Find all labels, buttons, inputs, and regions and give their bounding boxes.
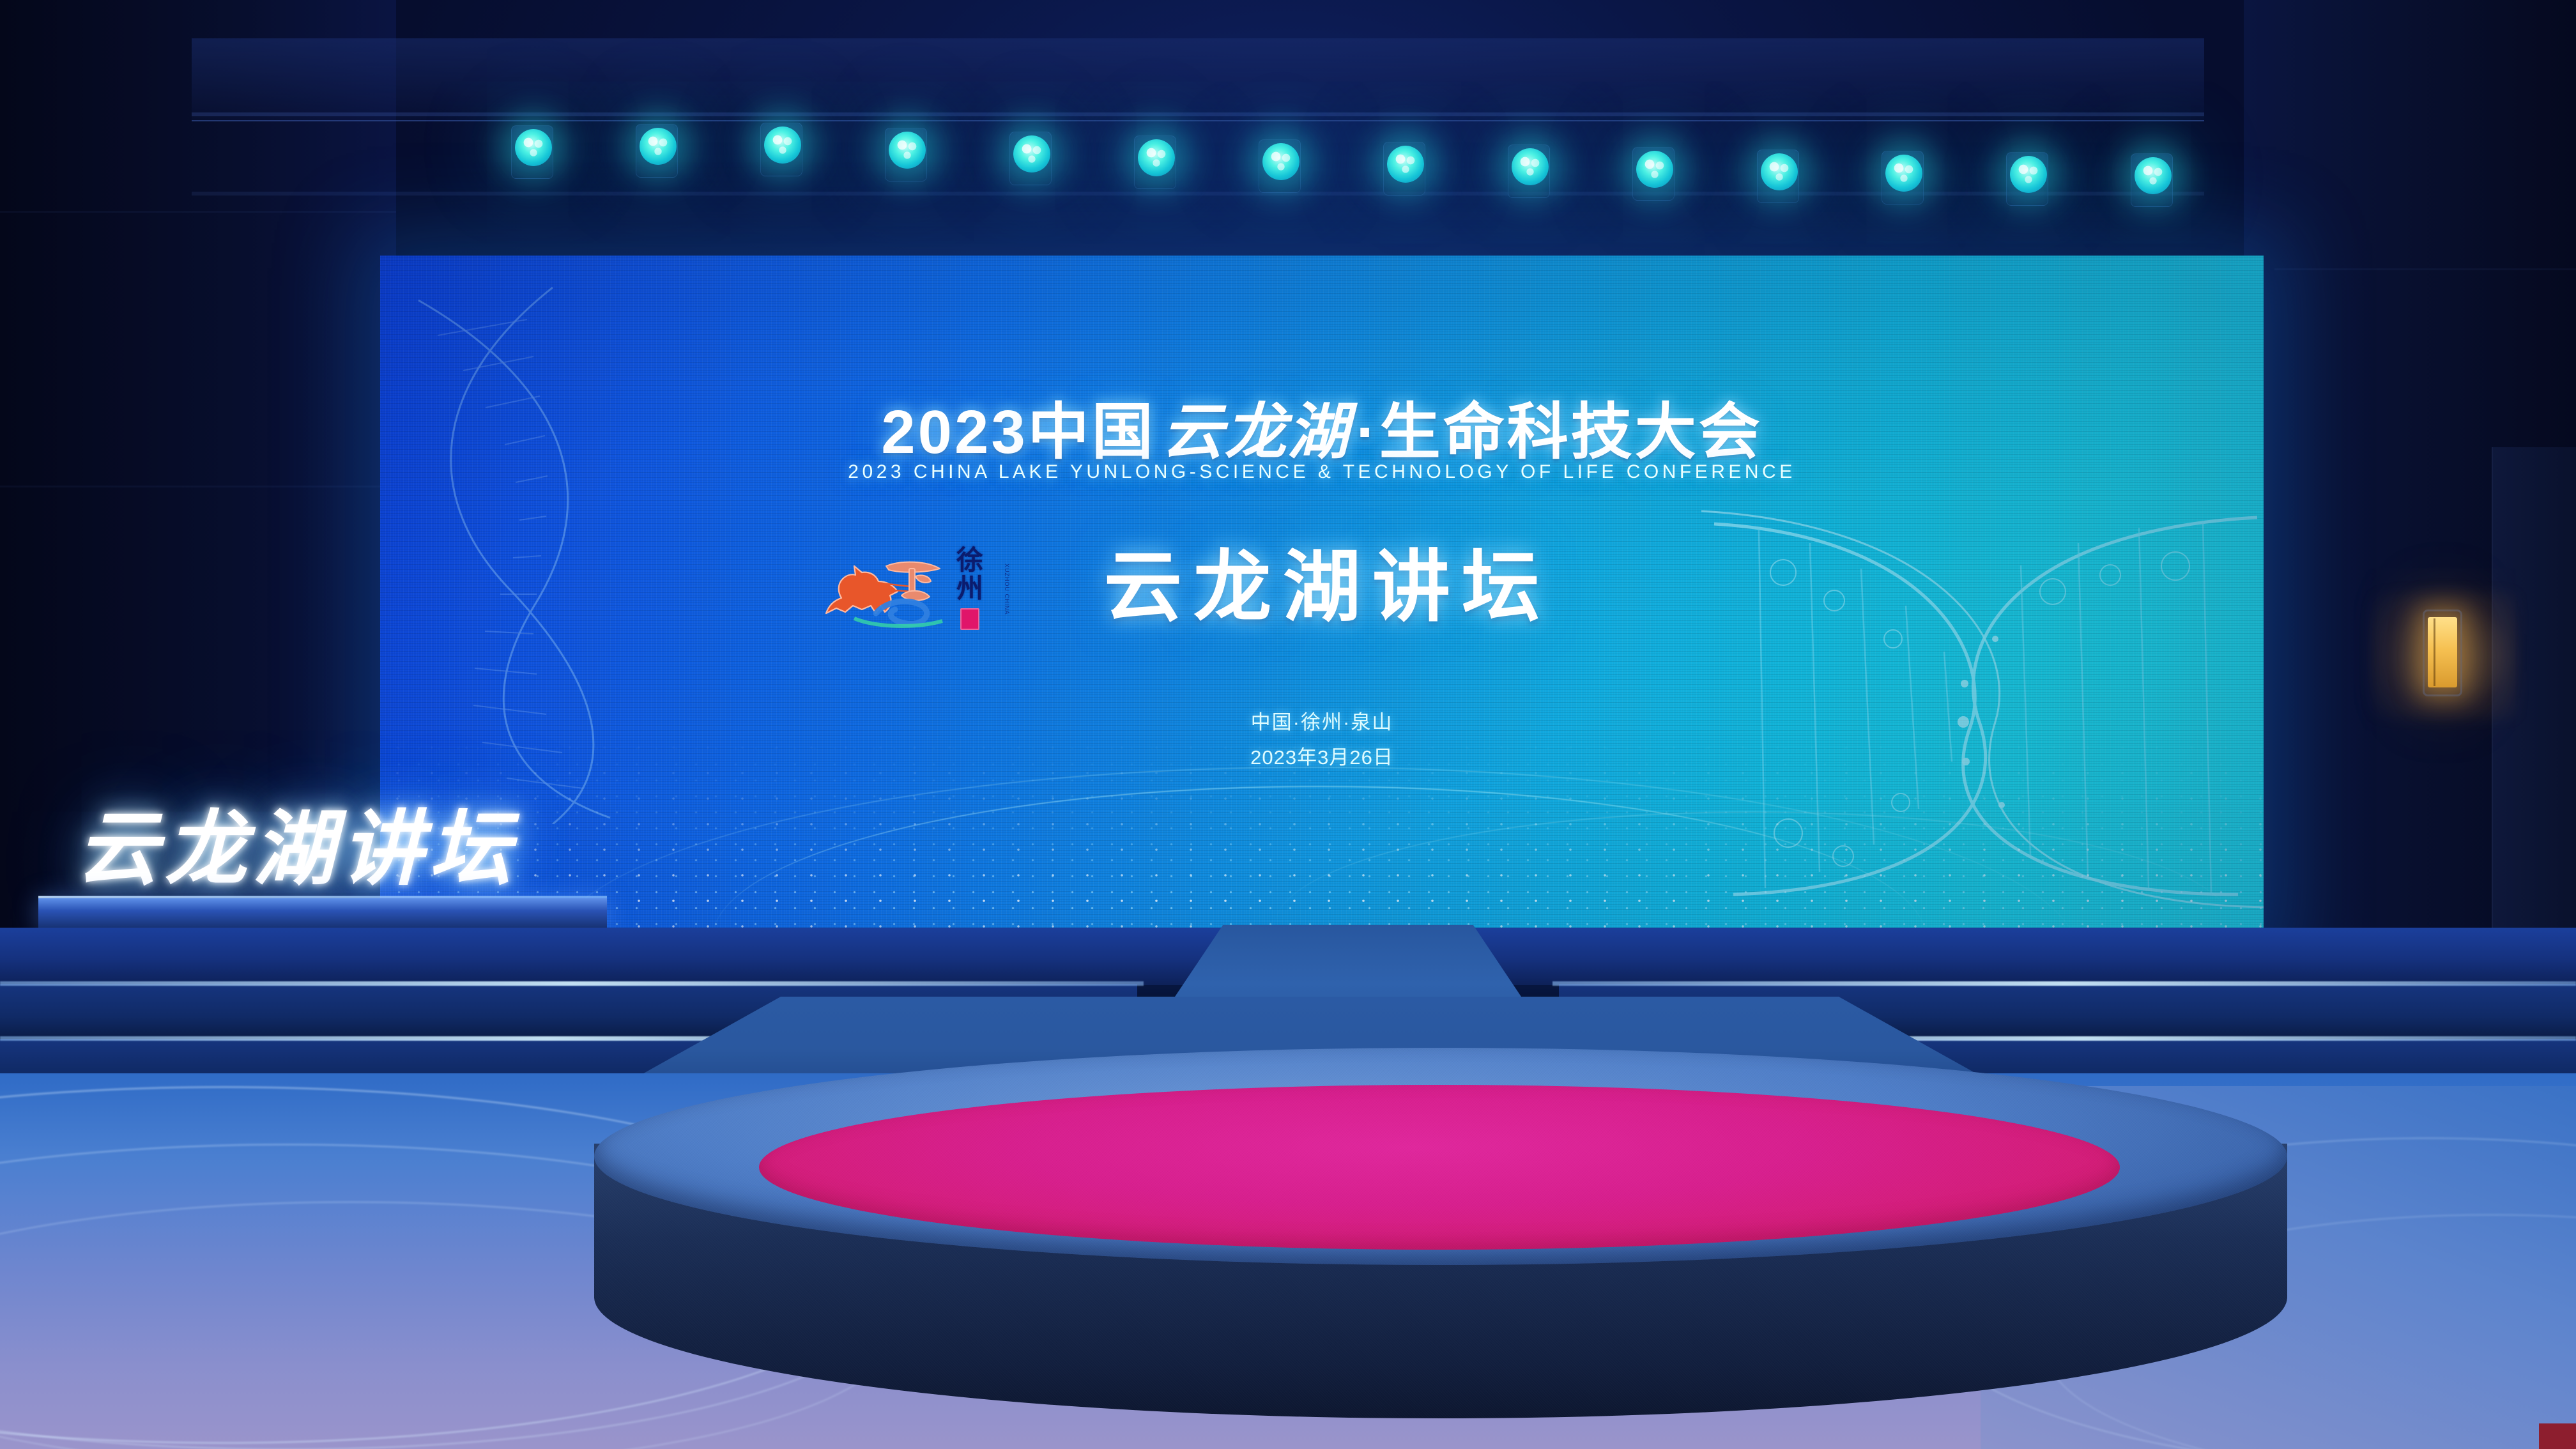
sconce-glass-panel: [2428, 617, 2457, 687]
neon-sign-text: 云龙湖讲坛: [77, 787, 639, 912]
stage-light-parcan: [1512, 148, 1549, 185]
ceiling-truss: [192, 38, 2204, 121]
title-dot: ·: [1356, 398, 1379, 466]
stage-light-parcan: [1885, 155, 1922, 192]
stage-light-parcan: [515, 129, 552, 166]
led-backdrop-screen: 徐州 XUZHOU CHINA 2023中国云龙湖·生命科技大会 2023 CH…: [380, 256, 2264, 946]
stage-step-edge: [0, 981, 1144, 986]
floor-corner-marker: [2539, 1423, 2576, 1449]
stage-light-parcan: [640, 128, 677, 165]
stage-light-parcan: [1636, 151, 1673, 188]
wave-arc: [712, 786, 1926, 939]
wall-seam: [0, 486, 396, 487]
wall-seam: [2274, 268, 2576, 270]
truss-bar: [192, 112, 2204, 116]
wall-sconce-lamp: [2428, 617, 2457, 687]
title-lake: 云龙湖: [1156, 398, 1356, 466]
wave-arc: [1275, 811, 2233, 926]
stage-step-edge: [1552, 981, 2576, 986]
stage-light-parcan: [889, 132, 926, 169]
title-country: 中国: [1028, 398, 1156, 466]
forum-name-heading: 云龙湖讲坛: [380, 524, 2264, 637]
carpet-texture: [759, 1085, 2120, 1250]
conference-title-en: 2023 CHINA LAKE YUNLONG-SCIENCE & TECHNO…: [380, 461, 2264, 483]
stage-light-parcan: [1138, 139, 1175, 176]
neon-sign-base: [38, 898, 607, 929]
wave-arc: [546, 767, 2080, 946]
stage-light-parcan: [2010, 156, 2047, 193]
wall-seam: [0, 211, 396, 213]
stage-light-parcan: [1262, 143, 1299, 180]
round-stage-podium: [594, 1048, 2287, 1449]
dna-helix-right-icon: [1663, 447, 2264, 946]
event-location: 中国·徐州·泉山: [380, 706, 2264, 735]
title-year: 2023: [881, 398, 1028, 466]
podium-pink-carpet: [759, 1085, 2120, 1250]
stage-light-parcan: [764, 126, 801, 164]
stage-light-parcan: [2135, 157, 2172, 194]
conference-title-cn: 2023中国云龙湖·生命科技大会: [380, 382, 2264, 471]
title-tail: 生命科技大会: [1379, 398, 1763, 466]
stage-light-parcan: [1387, 146, 1424, 183]
stage-scene: 徐州 XUZHOU CHINA 2023中国云龙湖·生命科技大会 2023 CH…: [0, 0, 2576, 1449]
stage-light-parcan: [1761, 153, 1798, 190]
stage-light-parcan: [1013, 135, 1050, 172]
event-date: 2023年3月26日: [380, 741, 2264, 770]
